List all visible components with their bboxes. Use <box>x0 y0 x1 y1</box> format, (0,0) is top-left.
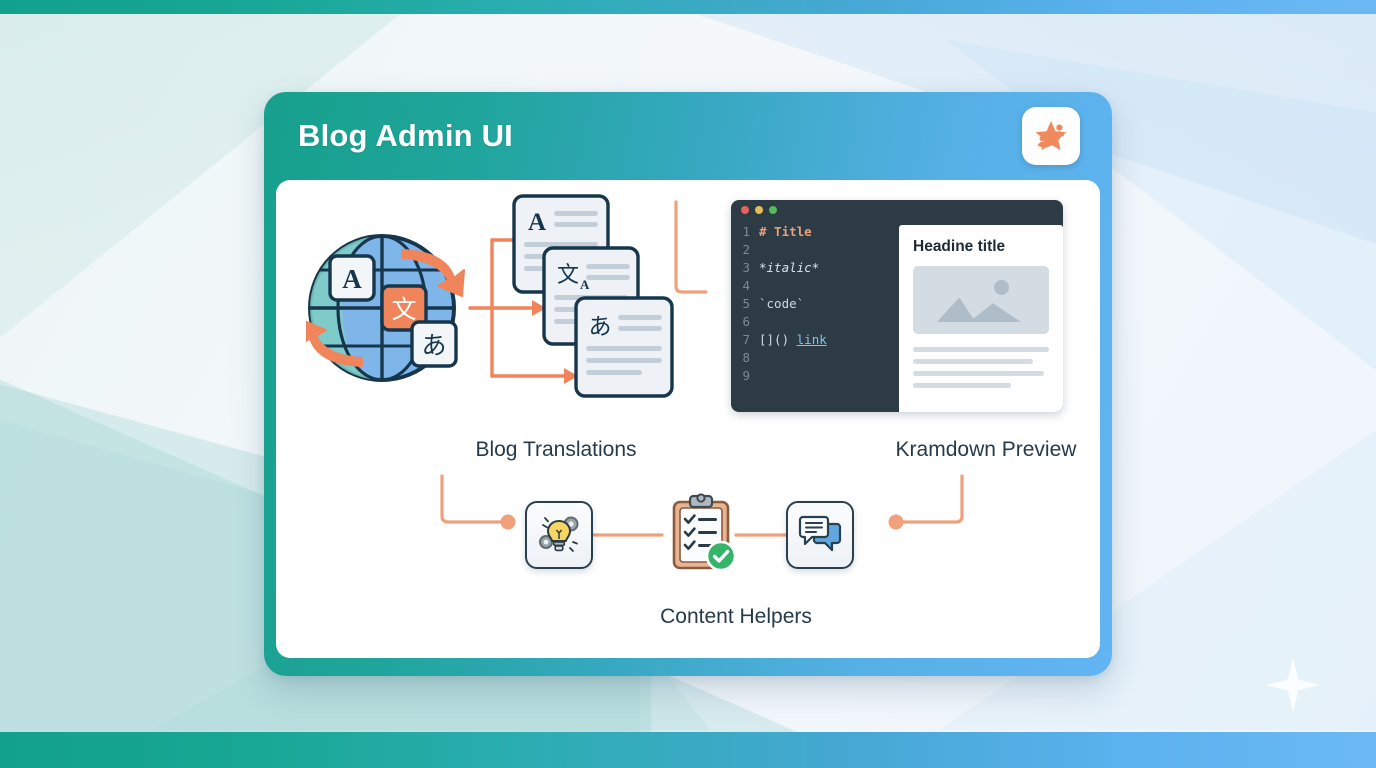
top-accent-bar <box>0 0 1376 14</box>
connector-right <box>900 476 962 522</box>
window-titlebar: Blog Admin UI <box>276 92 1100 180</box>
code-line: 1# Title <box>731 224 899 242</box>
code-line: 9 <box>731 368 899 386</box>
code-line: 7[]() link <box>731 332 899 350</box>
svg-text:文: 文 <box>557 263 579 288</box>
helper-checklist-approved[interactable] <box>666 492 744 578</box>
svg-text:あ: あ <box>421 331 446 360</box>
app-window: Blog Admin UI <box>264 92 1112 676</box>
bottom-accent-bar <box>0 732 1376 768</box>
section-label-translations: Blog Translations <box>416 438 696 462</box>
helper-comments[interactable] <box>786 501 854 569</box>
code-line: 8 <box>731 350 899 368</box>
document-japanese: あ <box>576 298 672 396</box>
svg-text:あ: あ <box>589 314 612 340</box>
code-line: 5`code` <box>731 296 899 314</box>
rendered-preview: Headine title <box>899 225 1063 412</box>
section-label-preview: Kramdown Preview <box>821 438 1100 462</box>
connector-left <box>442 476 504 522</box>
image-placeholder-icon <box>913 266 1049 334</box>
app-logo[interactable] <box>1022 107 1080 165</box>
svg-text:A: A <box>342 264 362 294</box>
svg-text:文: 文 <box>391 295 416 324</box>
diagram-canvas: A 文 あ <box>276 180 1100 658</box>
clipboard-check-icon <box>666 492 744 578</box>
window-maximize-dot[interactable] <box>769 206 777 214</box>
window-minimize-dot[interactable] <box>755 206 763 214</box>
code-line: 3*italic* <box>731 260 899 278</box>
code-line: 6 <box>731 314 899 332</box>
preview-headline: Headine title <box>913 238 1049 256</box>
code-line: 2 <box>731 242 899 260</box>
section-label-helpers: Content Helpers <box>556 605 916 629</box>
orange-star-people-logo-icon <box>1031 116 1071 156</box>
connector-dot-right <box>889 515 904 530</box>
editor-window-controls <box>731 200 1063 219</box>
chat-bubbles-icon <box>797 514 843 556</box>
helper-idea-settings[interactable] <box>525 501 593 569</box>
svg-text:A: A <box>528 209 546 236</box>
blog-translations-illustration: A 文 あ <box>306 194 706 422</box>
code-line: 4 <box>731 278 899 296</box>
preview-text-lines <box>913 347 1049 388</box>
translate-globe-icon: A 文 あ <box>306 236 464 380</box>
kramdown-editor[interactable]: 1# Title 2 3*italic* 4 5`code` 6 7[]() l… <box>731 200 1063 412</box>
code-lines[interactable]: 1# Title 2 3*italic* 4 5`code` 6 7[]() l… <box>731 219 899 412</box>
lightbulb-gear-icon <box>536 512 582 558</box>
page-title: Blog Admin UI <box>298 118 513 154</box>
connector-dot-left <box>501 515 516 530</box>
window-close-dot[interactable] <box>741 206 749 214</box>
markdown-link[interactable]: link <box>797 332 827 347</box>
